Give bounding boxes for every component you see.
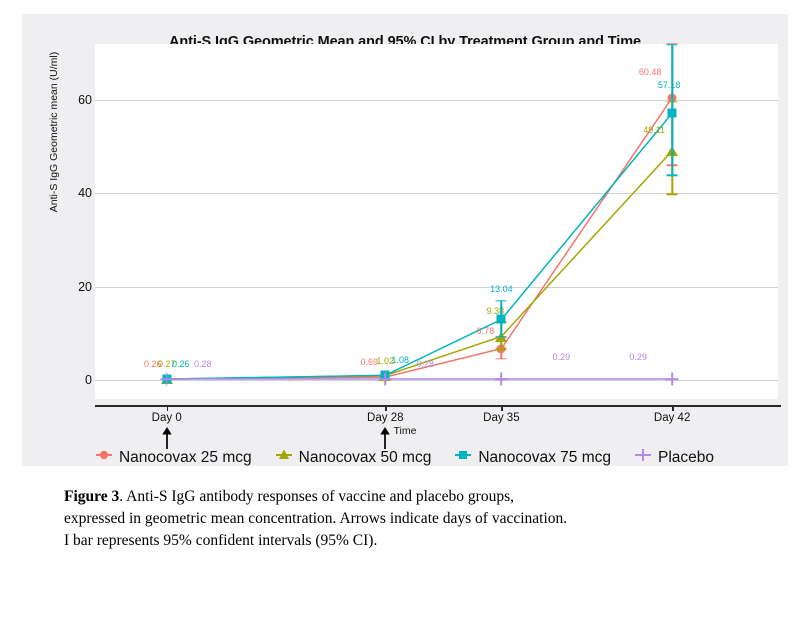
y-axis-title: Anti-S IgG Geometric mean (U/ml) xyxy=(48,22,60,242)
data-label: 0.28 xyxy=(194,359,212,369)
figure-panel: Anti-S IgG Geometric Mean and 95% CI by … xyxy=(22,14,788,466)
series-line xyxy=(167,151,672,379)
x-tick xyxy=(672,405,674,411)
data-label: 6.78 xyxy=(477,326,495,336)
chart-legend: Nanocovax 25 mcgNanocovax 50 mcgNanocova… xyxy=(22,448,788,467)
data-label: 13.04 xyxy=(490,284,513,294)
x-tick xyxy=(167,405,169,411)
legend-label: Placebo xyxy=(658,449,714,467)
plot-area: 0.260.696.7860.480.271.029.3849.110.261.… xyxy=(95,44,778,399)
legend-item[interactable]: Nanocovax 50 mcg xyxy=(276,448,432,467)
legend-label: Nanocovax 75 mcg xyxy=(478,449,611,467)
data-label: 57.18 xyxy=(658,80,681,90)
error-bar-cap xyxy=(667,194,678,195)
x-tick-label: Day 0 xyxy=(152,412,182,424)
data-label: 0.26 xyxy=(172,359,190,369)
caption-text-1: . Anti-S IgG antibody responses of vacci… xyxy=(119,488,514,505)
data-point-square xyxy=(497,315,506,324)
y-tick-label: 60 xyxy=(56,93,92,107)
data-label: 1.08 xyxy=(392,355,410,365)
x-tick xyxy=(385,405,387,411)
x-axis-title: Time xyxy=(22,425,788,437)
data-label: 0.29 xyxy=(553,352,571,362)
plus-marker-icon xyxy=(635,448,651,467)
caption-figure-number: Figure 3 xyxy=(64,488,119,505)
legend-label: Nanocovax 50 mcg xyxy=(299,449,432,467)
square-marker-icon xyxy=(455,448,471,467)
data-point-plus xyxy=(384,373,386,386)
series-line xyxy=(167,113,672,379)
data-label: 0.29 xyxy=(629,352,647,362)
x-axis-line xyxy=(95,405,781,407)
data-point-plus xyxy=(501,372,503,385)
error-bar-cap xyxy=(496,300,507,301)
caption-text-3: I bar represents 95% confident intervals… xyxy=(64,532,377,549)
data-point-plus xyxy=(671,372,673,385)
data-label: 0.28 xyxy=(417,359,435,369)
x-tick-label: Day 28 xyxy=(367,412,403,424)
error-bar-cap xyxy=(667,175,678,176)
x-tick-label: Day 42 xyxy=(654,412,690,424)
error-bar-cap xyxy=(496,336,507,337)
circle-marker-icon xyxy=(96,448,112,467)
data-label: 49.11 xyxy=(643,125,665,135)
y-tick-label: 20 xyxy=(56,280,92,294)
error-bar-cap xyxy=(496,358,507,359)
figure-caption: Figure 3. Anti-S IgG antibody responses … xyxy=(64,486,754,552)
y-tick-label: 0 xyxy=(56,373,92,387)
series-line xyxy=(167,98,672,379)
data-point-plus xyxy=(166,373,168,386)
legend-item[interactable]: Placebo xyxy=(635,448,714,467)
data-point-square xyxy=(668,109,677,118)
error-bar-cap xyxy=(667,44,678,45)
error-bar-cap xyxy=(496,349,507,350)
legend-item[interactable]: Nanocovax 25 mcg xyxy=(96,448,252,467)
x-tick-label: Day 35 xyxy=(483,412,519,424)
caption-text-2: expressed in geometric mean concentratio… xyxy=(64,510,567,527)
legend-label: Nanocovax 25 mcg xyxy=(119,449,252,467)
x-tick xyxy=(501,405,503,411)
y-tick-label: 40 xyxy=(56,186,92,200)
data-label: 0.69 xyxy=(361,357,379,367)
legend-item[interactable]: Nanocovax 75 mcg xyxy=(455,448,611,467)
data-label: 60.48 xyxy=(639,67,662,77)
triangle-marker-icon xyxy=(276,448,292,467)
